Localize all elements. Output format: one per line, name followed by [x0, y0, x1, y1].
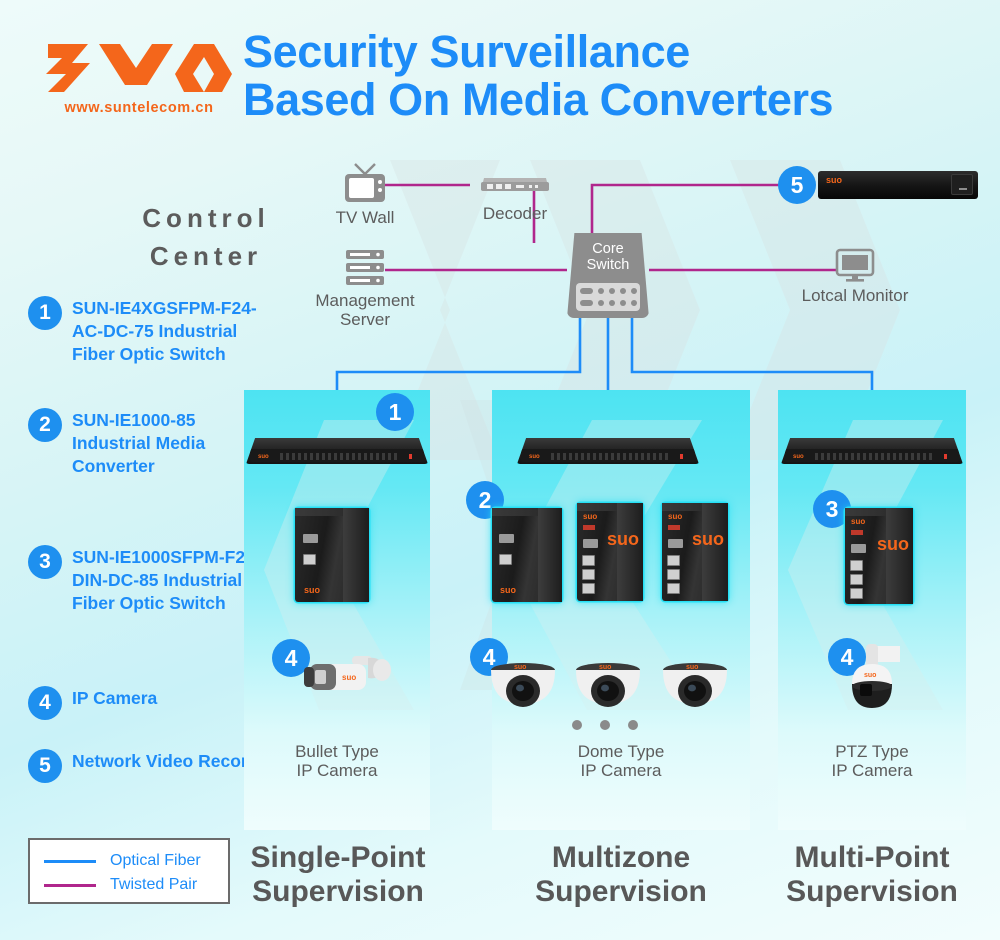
bullet-camera-panel1[interactable]: suo [296, 650, 392, 709]
legend-badge-2: 2 [28, 408, 62, 442]
panel2-scenario-line1: Multizone [492, 841, 750, 875]
din-rj45-port [582, 583, 595, 594]
core-switch-label-line2: Switch [567, 257, 649, 273]
din-side [538, 508, 562, 602]
twisted-pair-swatch [44, 884, 96, 887]
din-sfp-port [303, 534, 318, 543]
panel2-scenario-caption: Multizone Supervision [492, 841, 750, 908]
legend-label-1: SUN-IE4XGSFPM-F24-AC-DC-75 Industrial Fi… [72, 297, 277, 366]
din-side [886, 508, 913, 604]
badge-nvr: 5 [778, 166, 816, 204]
din-rj45-port [303, 554, 316, 565]
din-rj45-port [582, 555, 595, 566]
ptz-camera-icon: suo [838, 640, 910, 722]
nvr-logo: suo [826, 175, 842, 185]
din-power-terminal [583, 525, 595, 530]
din-side [617, 503, 643, 601]
din-switch-panel3[interactable]: suo suo [845, 508, 913, 604]
rack-switch-panel1[interactable]: suo [246, 438, 428, 464]
din-side [343, 508, 369, 602]
dome-camera-panel2-c[interactable]: suo [658, 658, 732, 719]
panel2-camera-caption: Dome Type IP Camera [492, 742, 750, 780]
bullet-camera-icon: suo [296, 650, 392, 704]
din-power-terminal [851, 530, 863, 535]
din-brand-logo: suo [607, 529, 639, 550]
din-switch-panel2-b[interactable]: suo suo [577, 503, 643, 601]
din-rj45-port [499, 554, 512, 565]
device-management-server[interactable]: Management Server [297, 248, 433, 329]
legend-badge-5: 5 [28, 749, 62, 783]
din-rj45-port [667, 555, 680, 566]
rack-ports [551, 453, 671, 460]
core-switch-port-panel [576, 283, 640, 311]
din-rj45-port [850, 574, 863, 585]
ptz-camera-panel3[interactable]: suo [838, 640, 910, 727]
din-sfp-port [583, 539, 598, 548]
panel1-camera-caption-line1: Bullet Type [244, 742, 430, 761]
dome-camera-panel2-a[interactable]: suo [486, 658, 560, 719]
din-rj45-port [667, 569, 680, 580]
optical-fiber-label: Optical Fiber [110, 852, 201, 870]
diagram-canvas: www.suntelecom.cn Security Surveillance … [0, 0, 1000, 940]
svg-text:suo: suo [864, 672, 876, 679]
din-logo-top: suo [668, 512, 682, 521]
din-brand-logo: suo [692, 529, 724, 550]
control-center-label-line1: Control [96, 200, 316, 238]
dome-camera-icon: suo [658, 658, 732, 714]
suntelecom-logo-icon [44, 30, 234, 96]
din-rj45-port [850, 560, 863, 571]
dot [628, 720, 638, 730]
header: www.suntelecom.cn Security Surveillance … [0, 0, 1000, 150]
panel2-camera-caption-line1: Dome Type [492, 742, 750, 761]
management-server-caption-line1: Management [297, 291, 433, 310]
device-local-monitor[interactable]: Lotcal Monitor [785, 248, 925, 305]
din-sfp-port [851, 544, 866, 553]
svg-text:suo: suo [514, 664, 526, 671]
brand-logo-block: www.suntelecom.cn [44, 30, 234, 116]
dome-camera-panel2-b[interactable]: suo [571, 658, 645, 719]
control-center-label-line2: Center [96, 238, 316, 276]
device-tv-wall[interactable]: TV Wall [322, 162, 408, 227]
rack-switch-panel2[interactable]: suo [517, 438, 699, 464]
din-rj45-port [667, 583, 680, 594]
svg-text:suo: suo [599, 664, 611, 671]
panel3-camera-caption-line1: PTZ Type [778, 742, 966, 761]
rack-ports [280, 453, 400, 460]
rack-logo: suo [529, 454, 540, 460]
nvr-chassis: suo [818, 171, 978, 199]
legend-badge-3: 3 [28, 545, 62, 579]
legend-badge-1: 1 [28, 296, 62, 330]
din-logo-bottom: suo [500, 585, 516, 595]
rack-switch-panel3[interactable]: suo [781, 438, 963, 464]
device-decoder[interactable]: Decoder [455, 172, 575, 223]
ellipsis-dots [572, 720, 638, 730]
tv-wall-caption: TV Wall [322, 208, 408, 227]
key-row-pair: Twisted Pair [30, 873, 228, 897]
din-brand-logo: suo [877, 534, 909, 555]
local-monitor-icon [835, 248, 875, 284]
decoder-icon [479, 172, 551, 194]
badge-panel1-rack: 1 [376, 393, 414, 431]
panel1-camera-caption-line2: IP Camera [244, 761, 430, 780]
nvr-drive-bay [951, 174, 973, 195]
local-monitor-caption: Lotcal Monitor [785, 286, 925, 305]
panel3-camera-caption-line2: IP Camera [778, 761, 966, 780]
din-logo-top: suo [583, 512, 597, 521]
media-converter-panel1[interactable]: suo [295, 508, 369, 602]
panel1-scenario-caption: Single-Point Supervision [238, 841, 438, 908]
line-type-key: Optical Fiber Twisted Pair [28, 838, 230, 904]
panel1-scenario-line2: Supervision [238, 875, 438, 909]
dot [572, 720, 582, 730]
din-sfp-port [668, 539, 683, 548]
rack-logo: suo [258, 454, 269, 460]
optical-fiber-swatch [44, 860, 96, 863]
rack-ports [815, 453, 935, 460]
rack-led [680, 454, 683, 459]
key-row-fiber: Optical Fiber [30, 849, 228, 873]
dome-camera-icon: suo [571, 658, 645, 714]
panel2-camera-caption-line2: IP Camera [492, 761, 750, 780]
media-converter-panel2-a[interactable]: suo [492, 508, 562, 602]
panel1-scenario-line1: Single-Point [238, 841, 438, 875]
control-center-label: Control Center [96, 200, 316, 275]
panel3-scenario-line1: Multi-Point [778, 841, 966, 875]
din-side [702, 503, 728, 601]
page-title: Security Surveillance Based On Media Con… [243, 28, 983, 123]
din-power-terminal [668, 525, 680, 530]
panel3-camera-caption: PTZ Type IP Camera [778, 742, 966, 780]
dome-camera-icon: suo [486, 658, 560, 714]
device-core-switch[interactable]: Core Switch [567, 233, 649, 318]
rack-logo: suo [793, 454, 804, 460]
din-rj45-port [850, 588, 863, 599]
device-nvr[interactable]: suo [818, 171, 978, 199]
din-sfp-port [499, 534, 514, 543]
panel3-scenario-line2: Supervision [778, 875, 966, 909]
rack-led [409, 454, 412, 459]
svg-text:suo: suo [342, 673, 356, 682]
management-server-icon [344, 248, 386, 288]
din-switch-panel2-c[interactable]: suo suo [662, 503, 728, 601]
twisted-pair-label: Twisted Pair [110, 876, 197, 894]
core-switch-label-line1: Core [567, 241, 649, 257]
panel2-scenario-line2: Supervision [492, 875, 750, 909]
dot [600, 720, 610, 730]
svg-text:suo: suo [686, 664, 698, 671]
tv-wall-icon [341, 162, 389, 206]
core-switch-label: Core Switch [567, 241, 649, 273]
panel1-camera-caption: Bullet Type IP Camera [244, 742, 430, 780]
page-title-line2: Based On Media Converters [243, 76, 983, 124]
rack-led [944, 454, 947, 459]
management-server-caption-line2: Server [297, 310, 433, 329]
panel3-scenario-caption: Multi-Point Supervision [778, 841, 966, 908]
page-title-line1: Security Surveillance [243, 28, 983, 76]
decoder-caption: Decoder [455, 204, 575, 223]
nvr-led [959, 188, 967, 190]
brand-url: www.suntelecom.cn [44, 100, 234, 116]
din-logo-top: suo [851, 517, 865, 526]
din-logo-bottom: suo [304, 585, 320, 595]
din-rj45-port [582, 569, 595, 580]
legend-badge-4: 4 [28, 686, 62, 720]
